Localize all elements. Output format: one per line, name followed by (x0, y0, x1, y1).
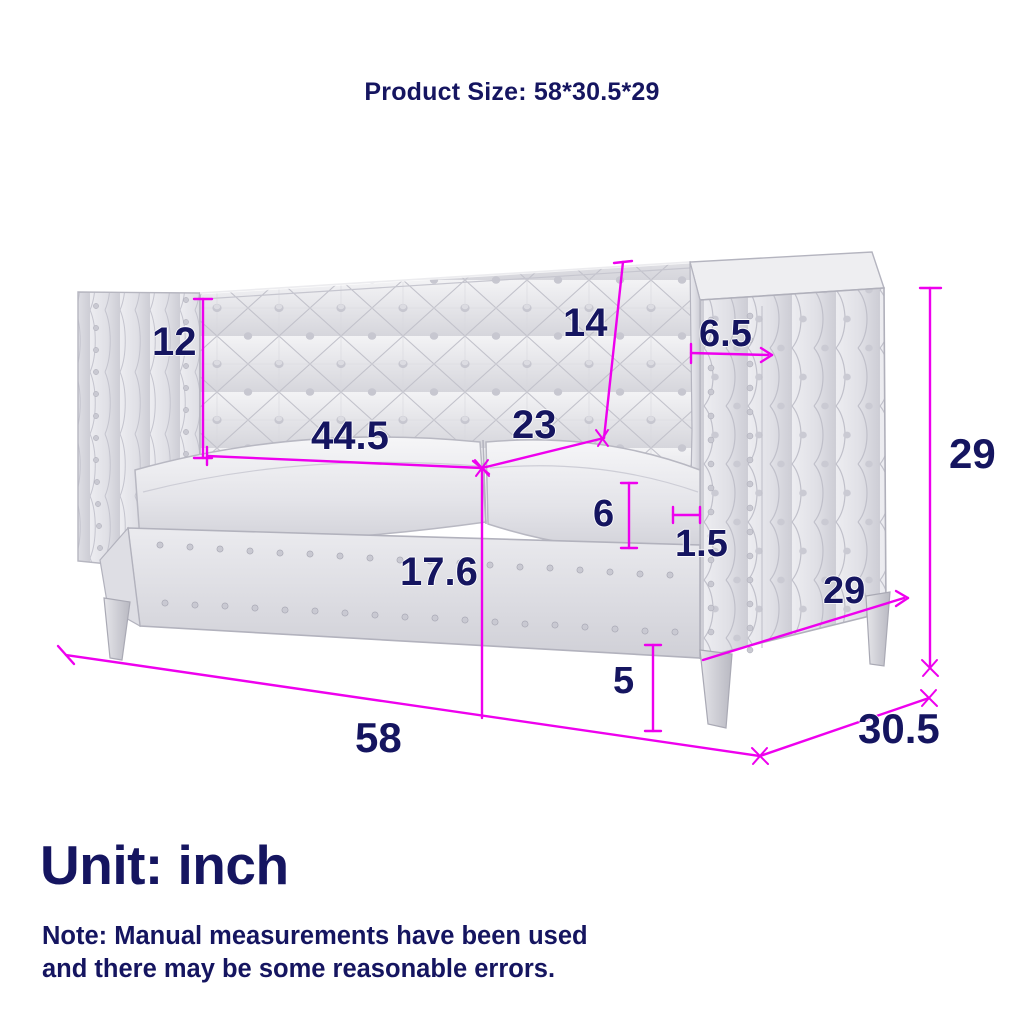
dimension-label-arm-width: 6.5 (699, 315, 752, 353)
dimension-label-overall-width: 58 (355, 717, 402, 759)
dimline-5 (645, 645, 661, 731)
dimension-label-back-height: 14 (563, 303, 608, 343)
dimline-1-5 (673, 507, 700, 523)
dimline-6 (621, 483, 637, 548)
diagram-canvas: Product Size: 58*30.5*29 (0, 0, 1024, 1024)
dimline-12 (194, 299, 212, 458)
dimension-label-cushion-thickness: 6 (593, 495, 614, 533)
dimension-label-leg-height: 5 (613, 662, 634, 700)
dimline-29-depth (703, 591, 908, 660)
note-line-2: and there may be some reasonable errors. (42, 953, 832, 986)
note-line-1: Note: Manual measurements have been used (42, 922, 588, 950)
dimension-label-overall-depth: 30.5 (858, 708, 940, 750)
dimension-label-side-depth: 29 (823, 572, 865, 610)
dimline-14 (604, 261, 632, 438)
dimension-label-seat-depth: 23 (512, 405, 557, 445)
dimline-58 (58, 646, 768, 764)
unit-label: Unit: inch (40, 838, 289, 893)
dimline-29-height (920, 288, 941, 676)
dimension-label-seat-width: 44.5 (311, 416, 389, 456)
dimension-label-arm-panel-thickness: 1.5 (675, 525, 728, 563)
dimension-label-overall-height: 29 (949, 433, 996, 475)
dimension-label-back-cushion-height: 12 (152, 322, 197, 362)
measurement-note: Note: Manual measurements have been used… (42, 920, 832, 985)
dimension-label-seat-height: 17.6 (400, 552, 478, 592)
